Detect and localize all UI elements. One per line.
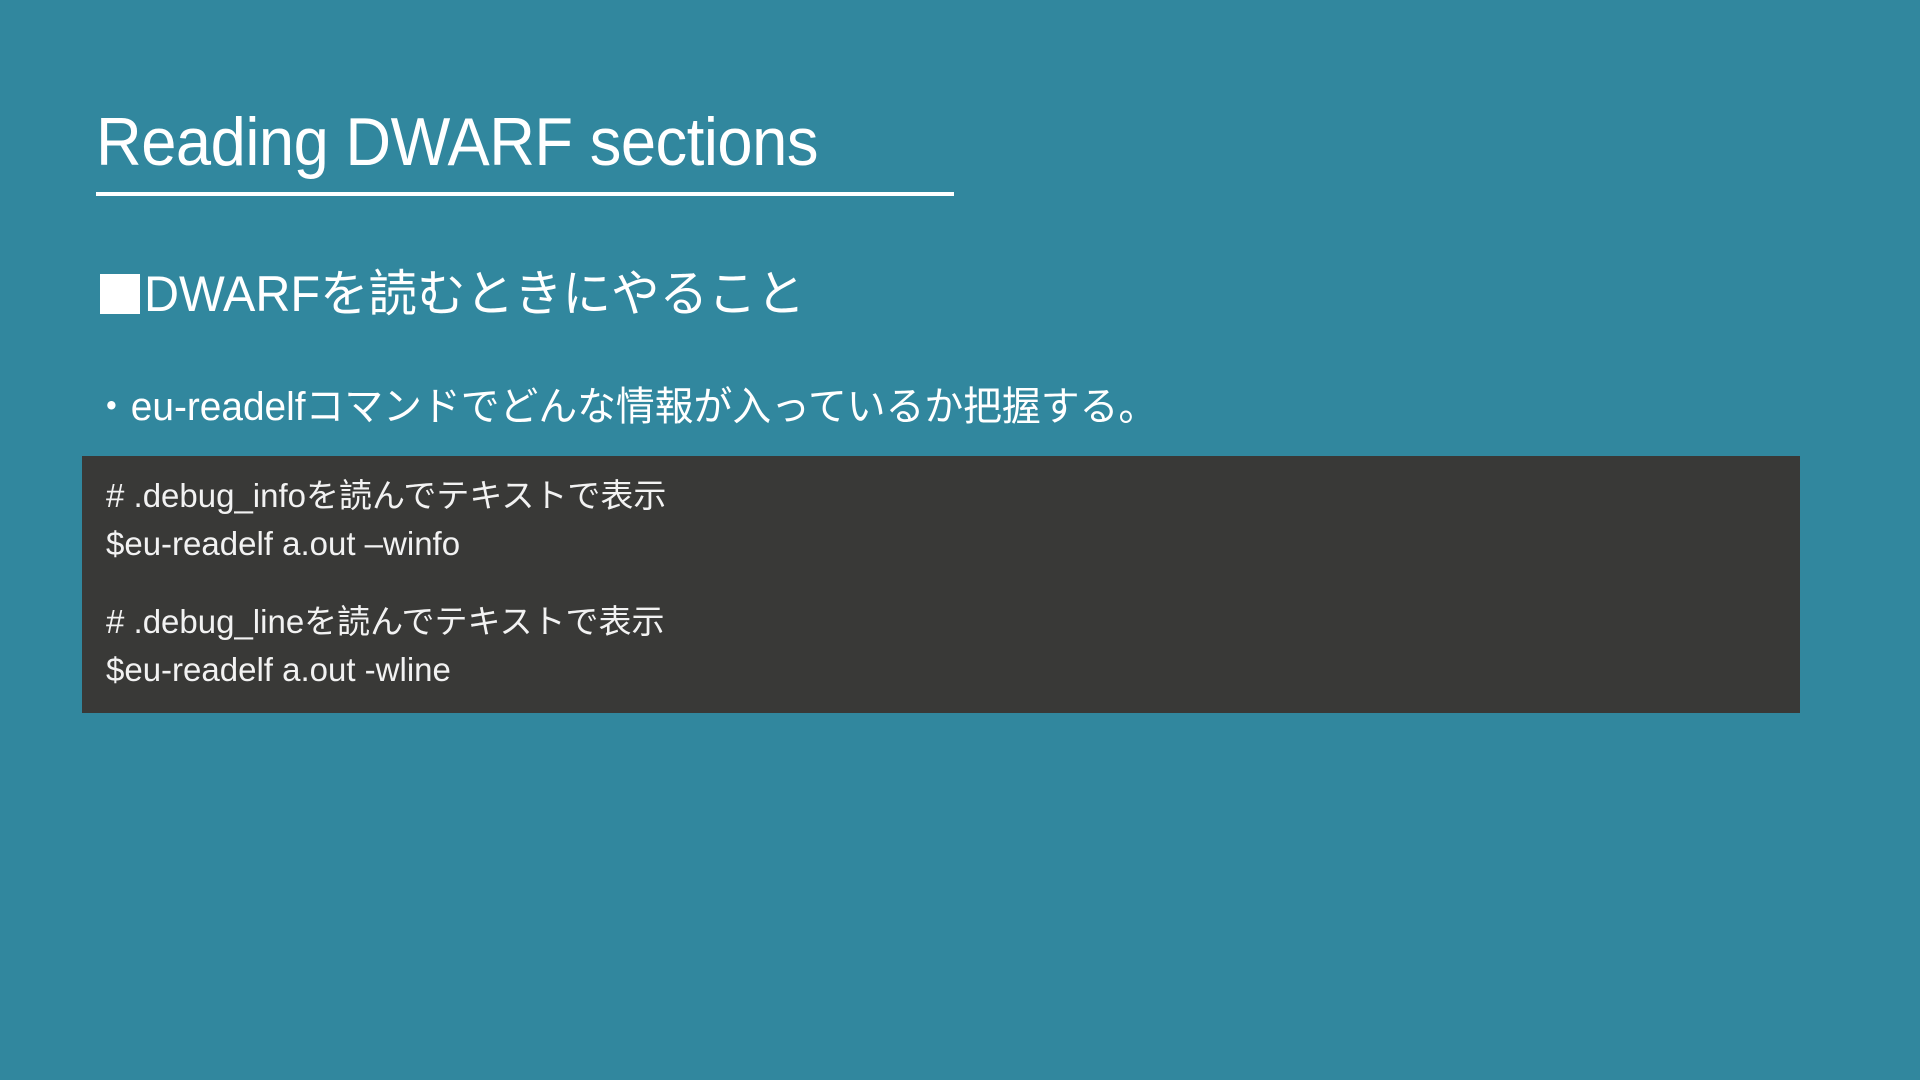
heading-text: DWARFを読むときにやること: [144, 268, 805, 321]
code-line: # .debug_infoを読んでテキストで表示: [106, 472, 1776, 520]
title-underline: [96, 192, 954, 196]
code-line-blank: [106, 568, 1776, 598]
page-title: Reading DWARF sections: [96, 108, 818, 176]
code-line: $eu-readelf a.out –winfo: [106, 520, 1776, 568]
code-line: # .debug_lineを読んでテキストで表示: [106, 598, 1776, 646]
sub-bullet-text: ・eu-readelfコマンドでどんな情報が入っているか把握する。: [92, 385, 1157, 429]
code-block: # .debug_infoを読んでテキストで表示 $eu-readelf a.o…: [82, 456, 1800, 713]
square-bullet-icon: [100, 274, 140, 314]
code-line: $eu-readelf a.out -wline: [106, 646, 1776, 694]
heading-bullet-item: DWARFを読むときにやること: [100, 268, 825, 321]
slide: Reading DWARF sections DWARFを読むときにやること ・…: [0, 0, 1920, 1080]
